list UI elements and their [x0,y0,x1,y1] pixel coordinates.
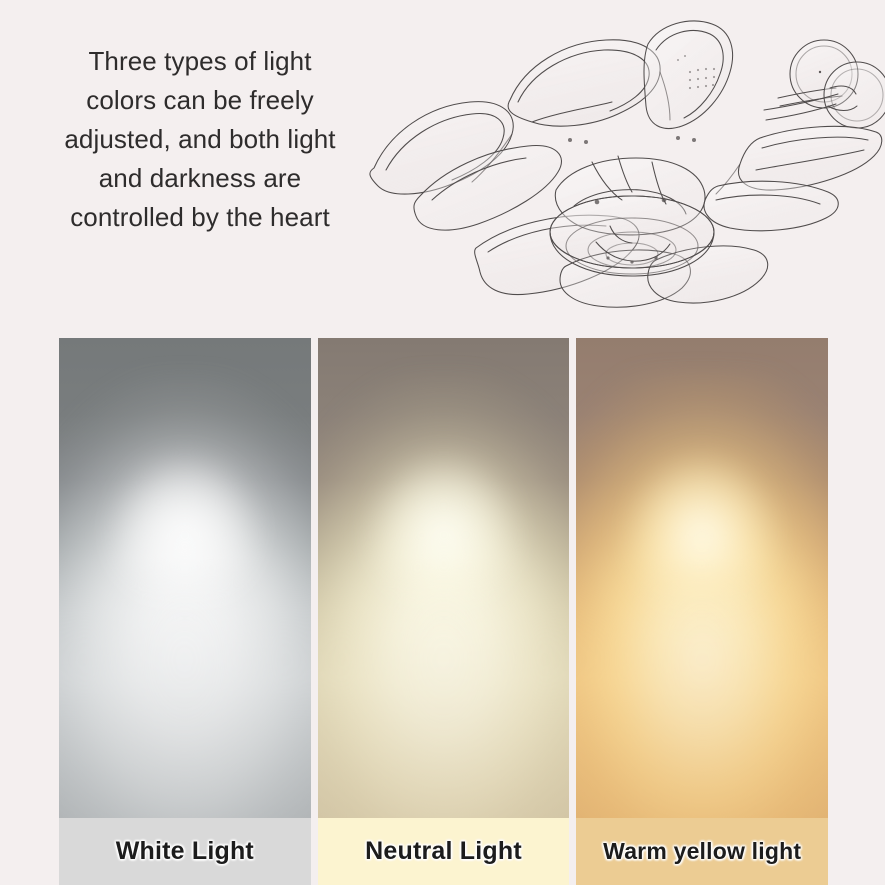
label-band-white: White Light [59,818,311,885]
light-mode-label-warm: Warm yellow light [603,838,801,865]
hero-section: Three types of light colors can be freel… [0,0,885,325]
ceiling-fan-lamp-icon [360,10,885,310]
light-mode-comparison: White Light Neutral Light Warm yellow li… [59,338,828,885]
product-illustration [360,10,885,310]
light-mode-label-white: White Light [116,837,254,866]
light-panel-neutral[interactable]: Neutral Light [318,338,570,885]
light-panel-warm[interactable]: Warm yellow light [576,338,828,885]
light-mode-label-neutral: Neutral Light [365,837,522,866]
page-title: Three types of light colors can be freel… [40,42,360,237]
label-band-neutral: Neutral Light [318,818,570,885]
label-band-warm: Warm yellow light [576,818,828,885]
light-panel-white[interactable]: White Light [59,338,311,885]
